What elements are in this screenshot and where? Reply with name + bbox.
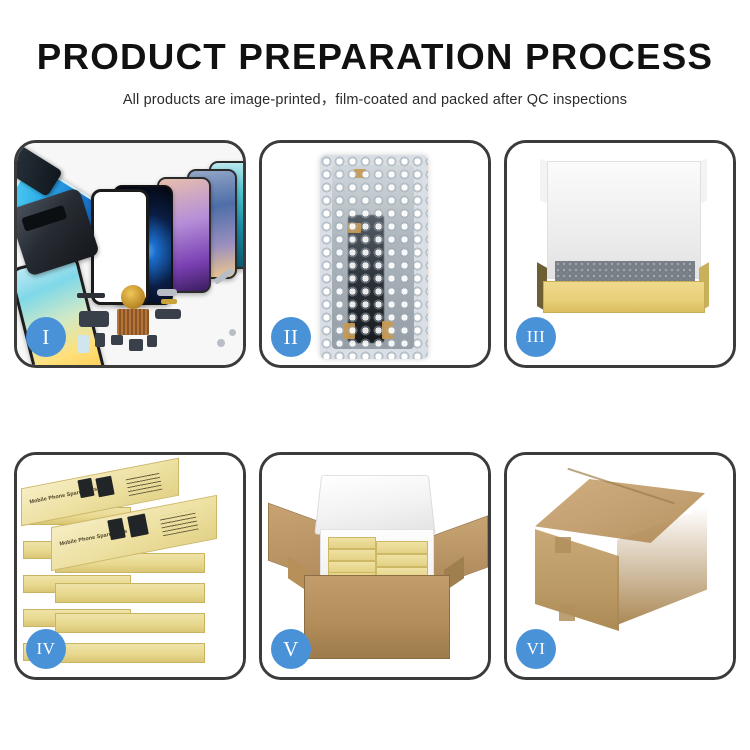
step-badge-3: III [516,317,556,357]
coil-part [121,285,145,309]
spare-part [77,335,89,353]
yellow-box-bundle [328,537,376,549]
yellow-box-bundle [328,549,376,561]
stacked-box [55,643,205,663]
box-label-phone-image [95,476,114,498]
tape-strip [354,169,366,178]
tape-strip [382,321,393,339]
process-step-grid: I II III [14,140,736,680]
copper-grid-chip [117,309,149,335]
carton-body [304,575,450,659]
process-step-3: III [504,140,736,368]
spare-part [95,333,105,347]
spare-part [147,335,157,347]
step-badge-4: IV [26,629,66,669]
page-header: PRODUCT PREPARATION PROCESS All products… [0,0,750,109]
box-label-phone-image [127,513,149,537]
step-badge-2: II [271,317,311,357]
spare-chip-gold [161,299,177,304]
screw [229,329,236,336]
page-subtitle: All products are image-printed，film-coat… [0,88,750,109]
process-step-1: I [14,140,246,368]
step-badge-5: V [271,629,311,669]
step-badge-1: I [26,317,66,357]
process-step-2: II [259,140,491,368]
page-title: PRODUCT PREPARATION PROCESS [0,38,750,76]
flex-cable [155,309,181,319]
tape-strip [344,323,355,339]
carton-tape-patch [555,537,571,553]
flex-cable [79,311,109,327]
spare-part [111,335,123,345]
bubble-wrap-bag [320,155,428,359]
carton-left-face [535,527,619,631]
carton-tape-patch [559,605,575,621]
stacked-box [55,583,205,603]
yellow-box-bundle [376,554,428,567]
box-front-panel [543,281,705,313]
process-step-4: Mobile Phone Spare Parts Mobile Phone Sp… [14,452,246,680]
yellow-box-bundle [328,561,376,573]
tape-strip [348,223,361,233]
foam-box-lid [314,475,435,535]
spare-part [129,339,143,351]
spare-chip [157,289,177,296]
screw [217,339,225,347]
process-step-5: V [259,452,491,680]
spare-chip [77,293,105,298]
stacked-box [55,613,205,633]
step-badge-6: VI [516,629,556,669]
process-step-6: VI [504,452,736,680]
yellow-box-bundle [376,541,428,554]
